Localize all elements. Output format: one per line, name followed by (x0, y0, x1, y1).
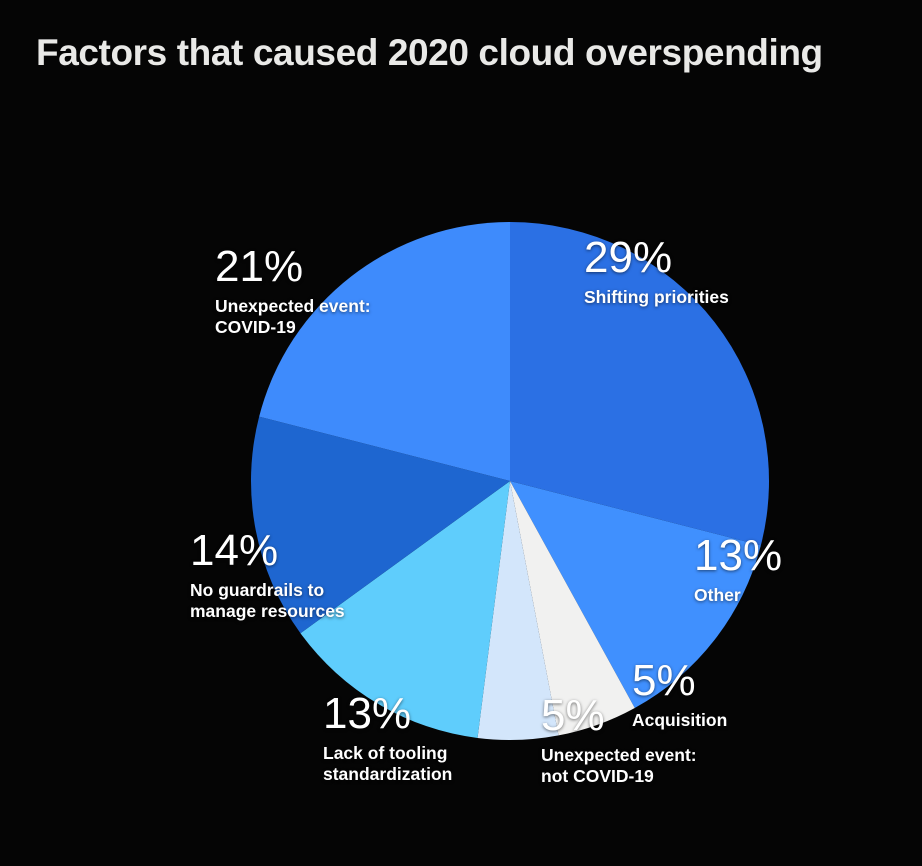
pie-category-lack-of-tooling: Lack of tooling standardization (323, 743, 452, 786)
pie-label-unexpected-event-covid: 21% Unexpected event: COVID-19 (215, 245, 371, 339)
pie-chart-figure: Factors that caused 2020 cloud overspend… (0, 0, 922, 866)
pie-category-no-guardrails: No guardrails to manage resources (190, 580, 345, 623)
pie-label-no-guardrails: 14% No guardrails to manage resources (190, 529, 345, 623)
pie-value-lack-of-tooling: 13% (323, 692, 452, 736)
pie-chart-graphic (0, 0, 922, 866)
pie-category-shifting-priorities: Shifting priorities (584, 287, 729, 308)
pie-category-unexpected-event-covid: Unexpected event: COVID-19 (215, 296, 371, 339)
pie-category-unexpected-event-not-covid: Unexpected event: not COVID-19 (541, 745, 697, 788)
pie-label-unexpected-event-not-covid: 5% Unexpected event: not COVID-19 (541, 694, 697, 788)
pie-value-shifting-priorities: 29% (584, 236, 729, 280)
pie-value-unexpected-event-covid: 21% (215, 245, 371, 289)
pie-label-lack-of-tooling: 13% Lack of tooling standardization (323, 692, 452, 786)
pie-value-no-guardrails: 14% (190, 529, 345, 573)
pie-value-other: 13% (694, 534, 782, 578)
pie-value-unexpected-event-not-covid: 5% (541, 694, 697, 738)
pie-label-shifting-priorities: 29% Shifting priorities (584, 236, 729, 308)
pie-category-other: Other (694, 585, 782, 606)
pie-label-other: 13% Other (694, 534, 782, 606)
